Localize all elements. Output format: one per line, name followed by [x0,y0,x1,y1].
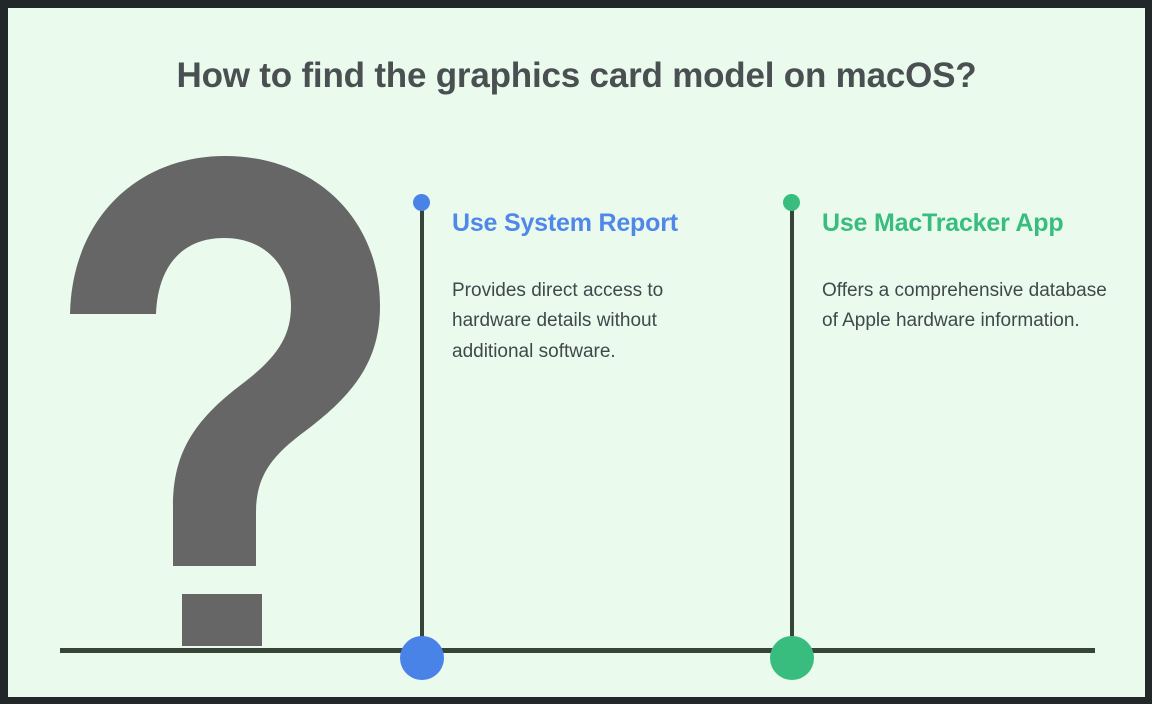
infographic-canvas: How to find the graphics card model on m… [8,8,1145,697]
step-2-heading: Use MacTracker App [822,203,1112,244]
step-1-stem [420,205,424,649]
step-1-content: Use System Report Provides direct access… [452,203,732,368]
step-2-stem [790,205,794,649]
step-1-top-marker [413,194,430,211]
question-mark-icon [60,146,390,646]
page-title: How to find the graphics card model on m… [8,56,1145,96]
step-2-base-marker [770,636,814,680]
step-1-heading: Use System Report [452,203,732,244]
outer-frame: How to find the graphics card model on m… [0,0,1152,704]
timeline-baseline [60,648,1095,653]
step-2-description: Offers a comprehensive database of Apple… [822,276,1112,338]
step-1-description: Provides direct access to hardware detai… [452,276,732,368]
step-1-base-marker [400,636,444,680]
step-2-top-marker [783,194,800,211]
step-2-content: Use MacTracker App Offers a comprehensiv… [822,203,1112,337]
